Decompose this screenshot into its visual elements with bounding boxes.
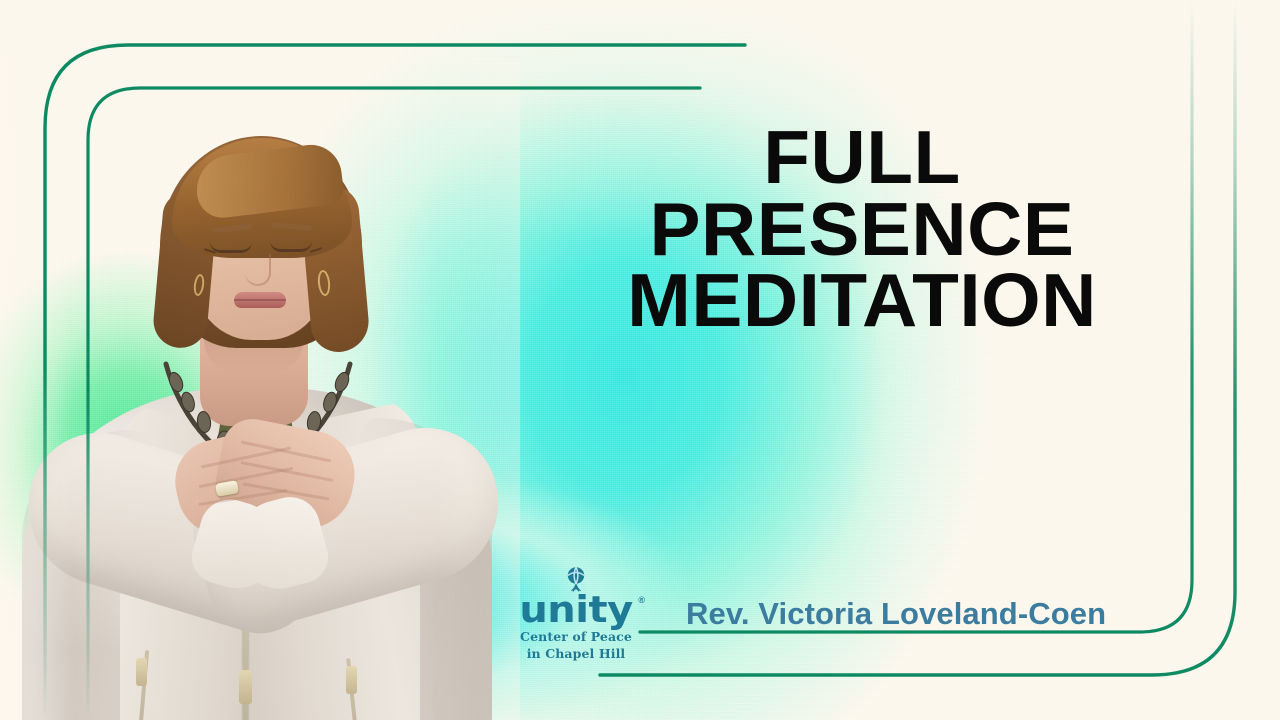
title-line-3: MEDITATION	[505, 265, 1219, 337]
title-line-1: FULL	[505, 122, 1219, 194]
footer-bar: unity ® Center of Peace in Chapel Hill R…	[512, 566, 1106, 661]
title-block: FULL PRESENCE MEDITATION	[512, 122, 1212, 337]
registered-trademark-icon: ®	[638, 595, 645, 605]
unity-wordmark: unity	[519, 594, 632, 626]
thumbnail-canvas: FULL PRESENCE MEDITATION unity ® Center …	[0, 0, 1280, 720]
unity-logo: unity ® Center of Peace in Chapel Hill	[512, 566, 640, 661]
logo-tagline-line-1: Center of Peace	[512, 630, 640, 645]
title-line-2: PRESENCE	[505, 194, 1219, 266]
unity-wordmark-wrap: unity ®	[512, 593, 640, 628]
logo-tagline-line-2: in Chapel Hill	[512, 647, 640, 662]
speaker-name: Rev. Victoria Loveland-Coen	[686, 596, 1106, 632]
